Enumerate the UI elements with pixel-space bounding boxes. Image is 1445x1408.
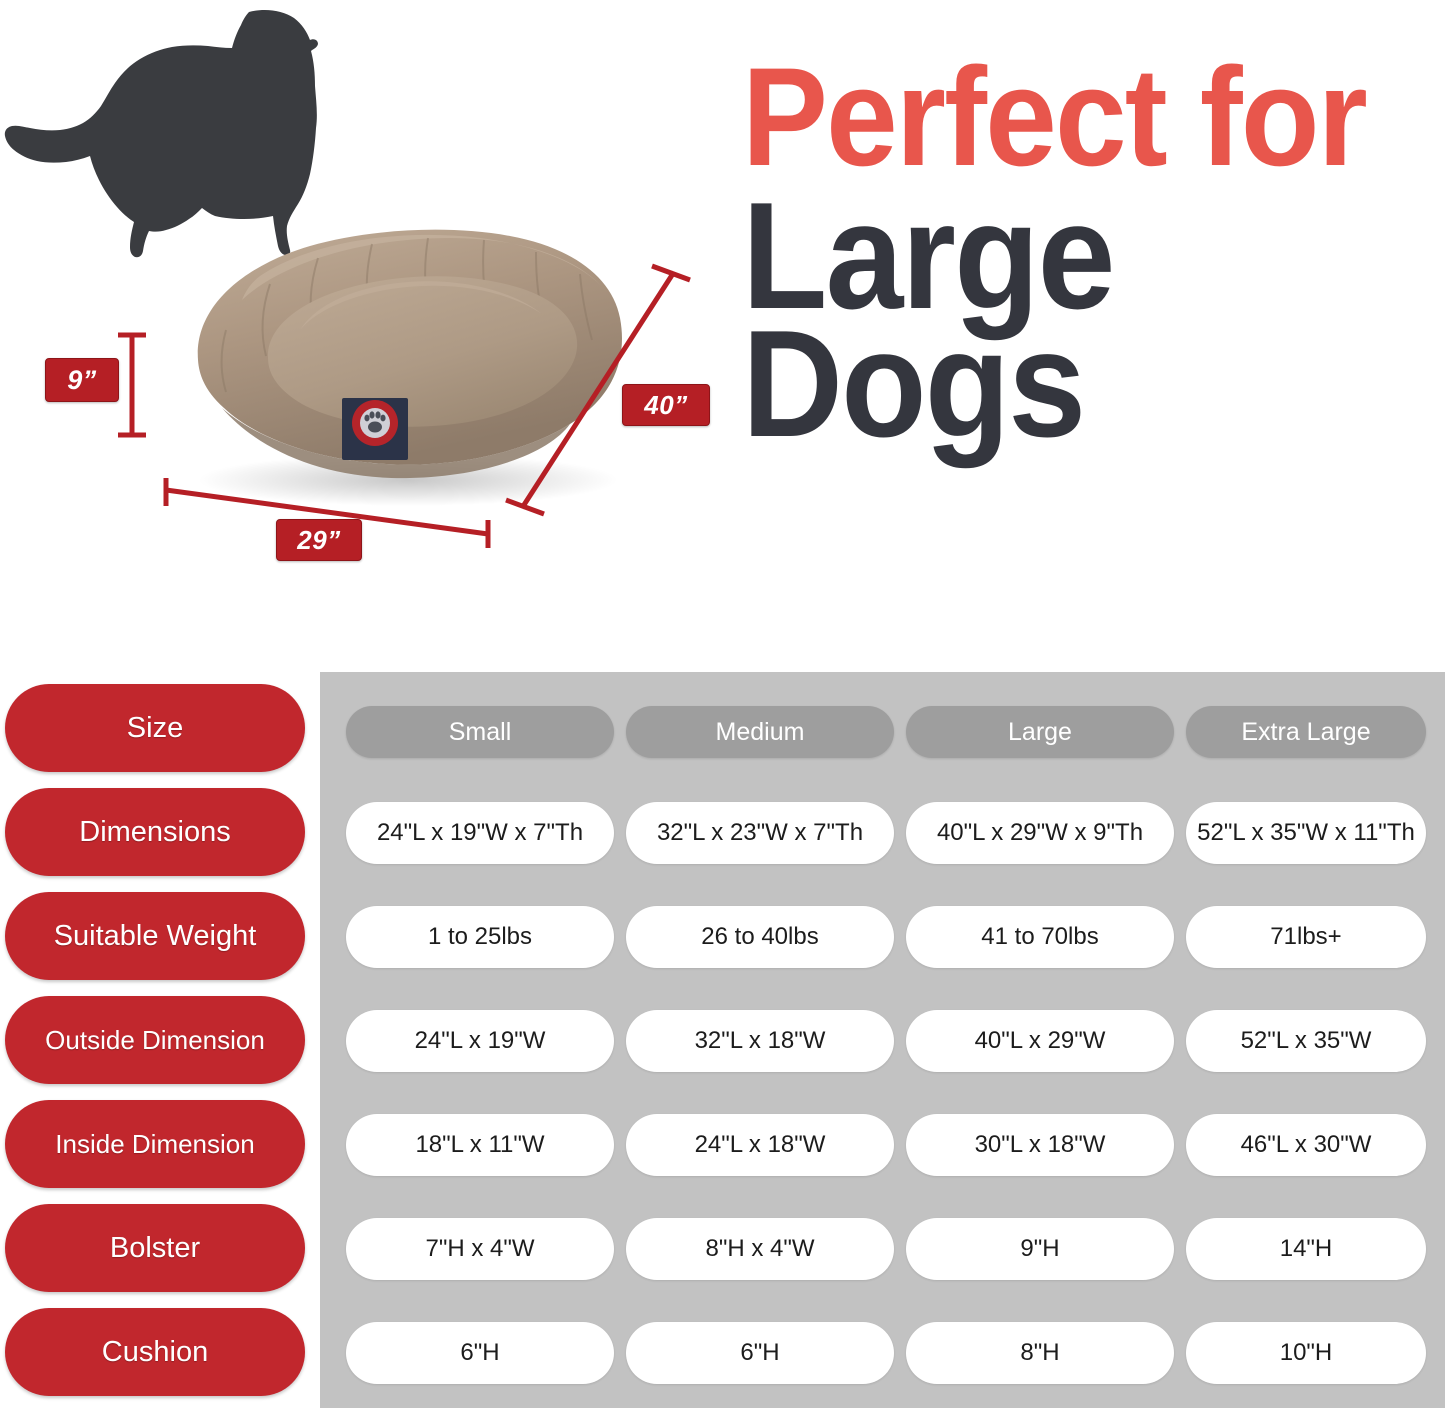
table-cell: 40"L x 29"W: [906, 1010, 1174, 1072]
table-cell: 40"L x 29"W x 9"Th: [906, 802, 1174, 864]
row-label-size: Size: [5, 684, 305, 772]
majestic-pet-tag: [342, 398, 408, 460]
table-cell: 18"L x 11"W: [346, 1114, 614, 1176]
width-dimension-label: 29”: [276, 519, 362, 561]
table-cell: 30"L x 18"W: [906, 1114, 1174, 1176]
spec-grid-panel: Small Medium Large Extra Large 24"L x 19…: [320, 672, 1445, 1408]
row-label-inside-dimension: Inside Dimension: [5, 1100, 305, 1188]
size-specification-table: Size Dimensions Suitable Weight Outside …: [0, 660, 1445, 1408]
row-label-cushion: Cushion: [5, 1308, 305, 1396]
table-cell: 52"L x 35"W: [1186, 1010, 1426, 1072]
table-cell: 32"L x 18"W: [626, 1010, 894, 1072]
hero-section: 9” 29” 40” Perfect for Large Dogs: [0, 0, 1445, 660]
column-header-medium: Medium: [626, 706, 894, 758]
row-label-suitable-weight: Suitable Weight: [5, 892, 305, 980]
table-cell: 24"L x 19"W: [346, 1010, 614, 1072]
row-label-bolster: Bolster: [5, 1204, 305, 1292]
table-cell: 7"H x 4"W: [346, 1218, 614, 1280]
column-header-small: Small: [346, 706, 614, 758]
table-cell: 24"L x 18"W: [626, 1114, 894, 1176]
hero-headline: Perfect for Large Dogs: [742, 52, 1442, 455]
table-cell: 14"H: [1186, 1218, 1426, 1280]
table-cell: 32"L x 23"W x 7"Th: [626, 802, 894, 864]
table-cell: 1 to 25lbs: [346, 906, 614, 968]
column-header-large: Large: [906, 706, 1174, 758]
table-cell: 6"H: [346, 1322, 614, 1384]
table-cell: 9"H: [906, 1218, 1174, 1280]
row-label-outside-dimension: Outside Dimension: [5, 996, 305, 1084]
table-cell: 24"L x 19"W x 7"Th: [346, 802, 614, 864]
table-cell: 52"L x 35"W x 11"Th: [1186, 802, 1426, 864]
table-cell: 8"H: [906, 1322, 1174, 1384]
length-dimension-label: 40”: [622, 384, 710, 426]
row-label-column: Size Dimensions Suitable Weight Outside …: [0, 660, 318, 1408]
table-cell: 8"H x 4"W: [626, 1218, 894, 1280]
table-cell: 6"H: [626, 1322, 894, 1384]
table-cell: 10"H: [1186, 1322, 1426, 1384]
table-cell: 71lbs+: [1186, 906, 1426, 968]
headline-line-3: Dogs: [742, 314, 1386, 455]
headline-line-1: Perfect for: [742, 52, 1386, 182]
row-label-dimensions: Dimensions: [5, 788, 305, 876]
height-dimension-label: 9”: [45, 358, 119, 402]
column-header-extra-large: Extra Large: [1186, 706, 1426, 758]
table-cell: 41 to 70lbs: [906, 906, 1174, 968]
table-cell: 26 to 40lbs: [626, 906, 894, 968]
table-cell: 46"L x 30"W: [1186, 1114, 1426, 1176]
